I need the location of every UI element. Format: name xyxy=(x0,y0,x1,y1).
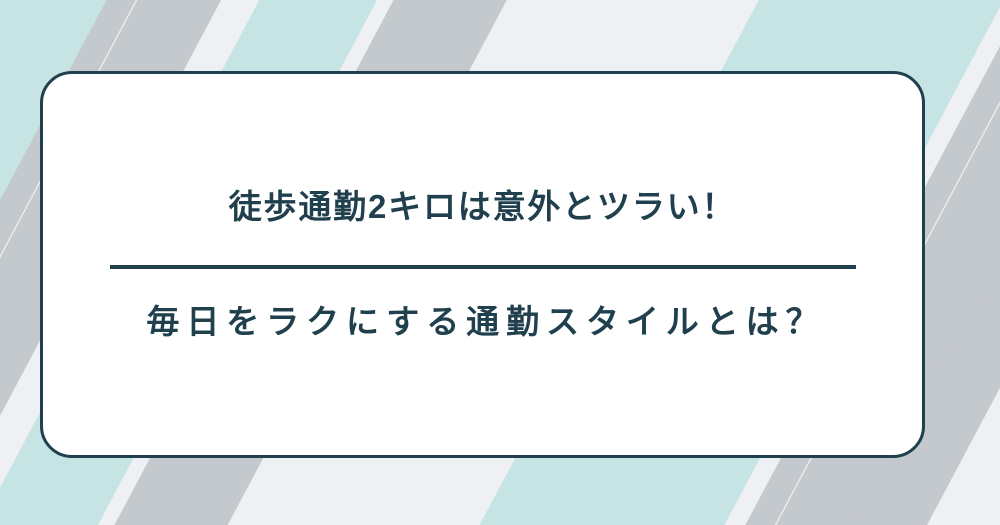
headline-title: 徒歩通勤2キロは意外とツラい！ xyxy=(229,186,737,231)
content-card: 徒歩通勤2キロは意外とツラい！ 毎日をラクにする通勤スタイルとは？ xyxy=(40,71,925,458)
thumbnail-canvas: 徒歩通勤2キロは意外とツラい！ 毎日をラクにする通勤スタイルとは？ xyxy=(0,0,1000,525)
title-divider xyxy=(110,265,856,269)
headline-subtitle: 毎日をラクにする通勤スタイルとは？ xyxy=(139,301,825,344)
